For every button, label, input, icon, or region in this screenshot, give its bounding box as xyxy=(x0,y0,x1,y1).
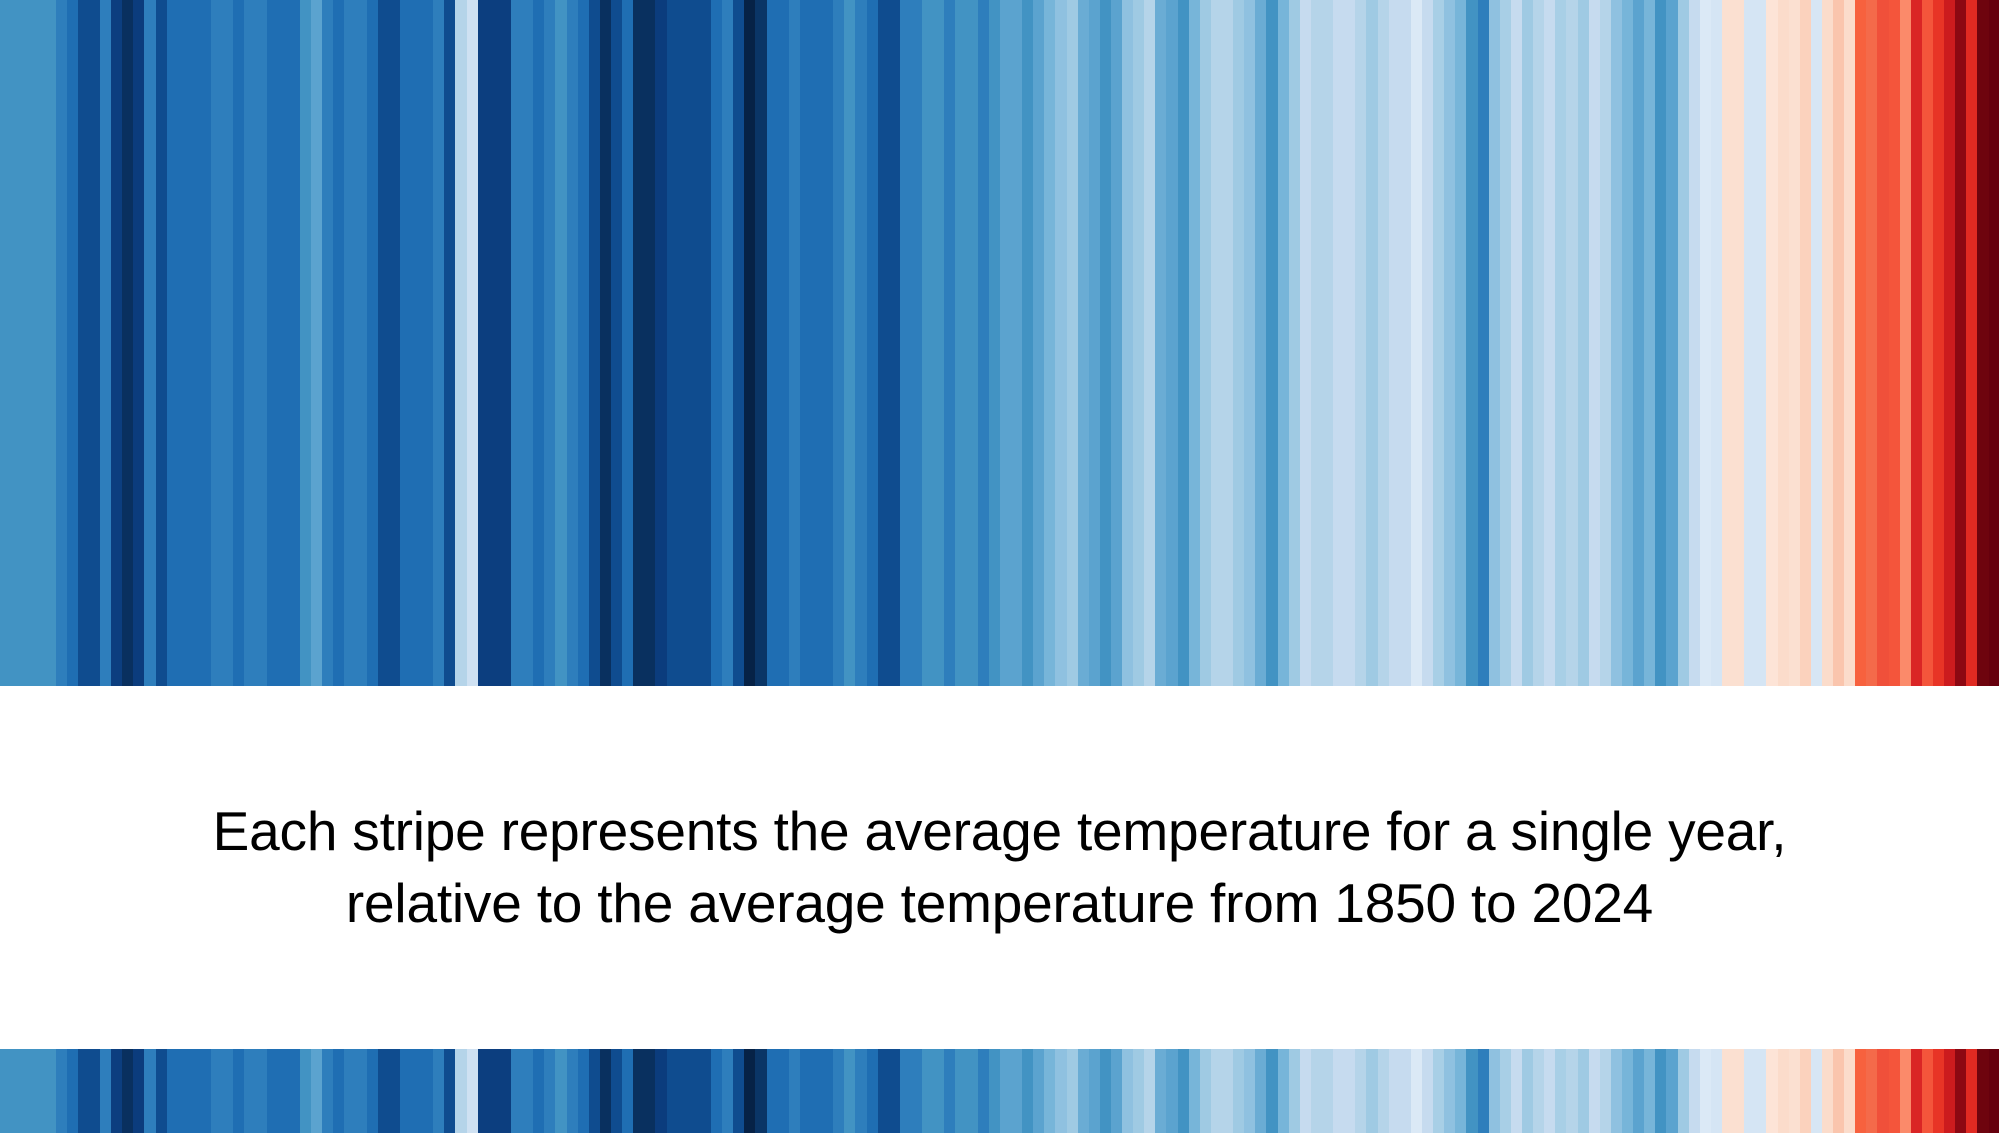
year-stripe xyxy=(889,1049,900,1133)
year-stripe xyxy=(1555,1049,1566,1133)
year-stripe xyxy=(633,1049,644,1133)
year-stripe xyxy=(0,0,11,686)
year-stripe xyxy=(600,1049,611,1133)
year-stripe xyxy=(44,0,55,686)
year-stripe xyxy=(667,0,678,686)
year-stripe xyxy=(33,1049,44,1133)
year-stripe xyxy=(633,0,644,686)
year-stripe xyxy=(689,1049,700,1133)
year-stripe xyxy=(1822,1049,1833,1133)
year-stripe xyxy=(389,0,400,686)
year-stripe xyxy=(1500,0,1511,686)
year-stripe xyxy=(267,1049,278,1133)
year-stripe xyxy=(589,1049,600,1133)
year-stripe xyxy=(22,0,33,686)
year-stripe xyxy=(544,0,555,686)
year-stripe xyxy=(1300,1049,1311,1133)
year-stripe xyxy=(1111,1049,1122,1133)
year-stripe xyxy=(189,0,200,686)
year-stripe xyxy=(1322,0,1333,686)
year-stripe xyxy=(1233,0,1244,686)
year-stripe xyxy=(1566,1049,1577,1133)
year-stripe xyxy=(1744,1049,1755,1133)
year-stripe xyxy=(944,1049,955,1133)
year-stripe xyxy=(1178,1049,1189,1133)
year-stripe xyxy=(1411,1049,1422,1133)
year-stripe xyxy=(522,0,533,686)
year-stripe xyxy=(767,0,778,686)
year-stripe xyxy=(1244,1049,1255,1133)
year-stripe xyxy=(978,0,989,686)
year-stripe xyxy=(111,0,122,686)
year-stripe xyxy=(855,0,866,686)
year-stripe xyxy=(533,0,544,686)
year-stripe xyxy=(844,1049,855,1133)
year-stripe xyxy=(200,0,211,686)
year-stripe xyxy=(1378,0,1389,686)
year-stripe xyxy=(955,1049,966,1133)
year-stripe xyxy=(1633,0,1644,686)
year-stripe xyxy=(1044,1049,1055,1133)
caption-line-1: Each stripe represents the average tempe… xyxy=(70,796,1930,868)
year-stripe xyxy=(1778,0,1789,686)
year-stripe xyxy=(644,1049,655,1133)
year-stripe xyxy=(422,1049,433,1133)
main-stripes-band xyxy=(0,0,1999,686)
year-stripe xyxy=(544,1049,555,1133)
year-stripe xyxy=(1511,1049,1522,1133)
year-stripe xyxy=(1966,1049,1977,1133)
year-stripe xyxy=(133,1049,144,1133)
year-stripe xyxy=(855,1049,866,1133)
year-stripe xyxy=(1833,1049,1844,1133)
year-stripe xyxy=(511,0,522,686)
year-stripe xyxy=(122,0,133,686)
year-stripe xyxy=(1433,0,1444,686)
year-stripe xyxy=(478,1049,489,1133)
year-stripe xyxy=(1389,0,1400,686)
year-stripe xyxy=(1478,1049,1489,1133)
year-stripe xyxy=(311,0,322,686)
year-stripe xyxy=(1922,1049,1933,1133)
year-stripe xyxy=(1500,1049,1511,1133)
year-stripe xyxy=(322,0,333,686)
year-stripe xyxy=(244,0,255,686)
year-stripe xyxy=(478,0,489,686)
year-stripe xyxy=(1200,1049,1211,1133)
year-stripe xyxy=(400,1049,411,1133)
year-stripe xyxy=(1533,1049,1544,1133)
year-stripe xyxy=(1877,1049,1888,1133)
year-stripe xyxy=(1977,1049,1988,1133)
year-stripe xyxy=(578,0,589,686)
year-stripe xyxy=(1578,0,1589,686)
year-stripe xyxy=(1489,0,1500,686)
year-stripe xyxy=(11,0,22,686)
year-stripe xyxy=(989,1049,1000,1133)
year-stripe xyxy=(1933,1049,1944,1133)
year-stripe xyxy=(1078,0,1089,686)
year-stripe xyxy=(1633,1049,1644,1133)
year-stripe xyxy=(889,0,900,686)
year-stripe xyxy=(1877,0,1888,686)
year-stripe xyxy=(56,0,67,686)
year-stripe xyxy=(1344,1049,1355,1133)
year-stripe xyxy=(444,1049,455,1133)
caption-line-2: relative to the average temperature from… xyxy=(70,868,1930,940)
year-stripe xyxy=(1122,0,1133,686)
year-stripe xyxy=(1011,1049,1022,1133)
year-stripe xyxy=(1766,0,1777,686)
year-stripe xyxy=(1044,0,1055,686)
year-stripe xyxy=(1400,1049,1411,1133)
year-stripe xyxy=(411,0,422,686)
year-stripe xyxy=(489,1049,500,1133)
year-stripe xyxy=(1078,1049,1089,1133)
year-stripe xyxy=(1455,1049,1466,1133)
year-stripe xyxy=(1755,0,1766,686)
year-stripe xyxy=(1722,1049,1733,1133)
year-stripe xyxy=(1144,0,1155,686)
year-stripe xyxy=(1600,0,1611,686)
year-stripe xyxy=(344,0,355,686)
year-stripe xyxy=(78,0,89,686)
year-stripe xyxy=(233,1049,244,1133)
year-stripe xyxy=(967,0,978,686)
year-stripe xyxy=(678,0,689,686)
year-stripe xyxy=(1822,0,1833,686)
year-stripe xyxy=(1666,1049,1677,1133)
year-stripe xyxy=(1922,0,1933,686)
year-stripe xyxy=(1789,1049,1800,1133)
year-stripe xyxy=(433,1049,444,1133)
caption-text: Each stripe represents the average tempe… xyxy=(70,796,1930,939)
year-stripe xyxy=(256,1049,267,1133)
year-stripe xyxy=(900,0,911,686)
year-stripe xyxy=(489,0,500,686)
year-stripe xyxy=(655,1049,666,1133)
year-stripe xyxy=(1366,1049,1377,1133)
year-stripe xyxy=(267,0,278,686)
year-stripe xyxy=(389,1049,400,1133)
year-stripe xyxy=(278,1049,289,1133)
year-stripe xyxy=(878,0,889,686)
year-stripe xyxy=(533,1049,544,1133)
year-stripe xyxy=(933,1049,944,1133)
year-stripe xyxy=(167,1049,178,1133)
footer-stripes-band xyxy=(0,1049,1999,1133)
year-stripe xyxy=(1800,1049,1811,1133)
year-stripe xyxy=(1711,1049,1722,1133)
year-stripe xyxy=(1122,1049,1133,1133)
year-stripe xyxy=(933,0,944,686)
year-stripe xyxy=(1144,1049,1155,1133)
year-stripe xyxy=(1689,1049,1700,1133)
year-stripe xyxy=(100,0,111,686)
year-stripe xyxy=(378,0,389,686)
year-stripe xyxy=(1311,0,1322,686)
year-stripe xyxy=(955,0,966,686)
year-stripe xyxy=(433,0,444,686)
year-stripe xyxy=(111,1049,122,1133)
year-stripe xyxy=(1800,0,1811,686)
year-stripe xyxy=(1000,1049,1011,1133)
year-stripe xyxy=(555,0,566,686)
year-stripe xyxy=(844,0,855,686)
year-stripe xyxy=(500,1049,511,1133)
year-stripe xyxy=(1622,0,1633,686)
year-stripe xyxy=(1511,0,1522,686)
year-stripe xyxy=(44,1049,55,1133)
year-stripe xyxy=(1944,0,1955,686)
year-stripe xyxy=(278,0,289,686)
year-stripe xyxy=(1789,0,1800,686)
year-stripe xyxy=(89,0,100,686)
year-stripe xyxy=(567,0,578,686)
year-stripe xyxy=(1766,1049,1777,1133)
year-stripe xyxy=(144,1049,155,1133)
year-stripe xyxy=(1333,0,1344,686)
year-stripe xyxy=(1411,0,1422,686)
year-stripe xyxy=(1811,1049,1822,1133)
year-stripe xyxy=(189,1049,200,1133)
year-stripe xyxy=(944,0,955,686)
year-stripe xyxy=(1266,0,1277,686)
year-stripe xyxy=(467,1049,478,1133)
year-stripe xyxy=(1400,0,1411,686)
year-stripe xyxy=(222,1049,233,1133)
year-stripe xyxy=(1022,1049,1033,1133)
year-stripe xyxy=(100,1049,111,1133)
year-stripe xyxy=(789,1049,800,1133)
year-stripe xyxy=(1389,1049,1400,1133)
year-stripe xyxy=(289,0,300,686)
year-stripe xyxy=(1989,0,1999,686)
year-stripe xyxy=(444,0,455,686)
year-stripe xyxy=(1866,1049,1877,1133)
year-stripe xyxy=(1544,0,1555,686)
year-stripe xyxy=(1166,0,1177,686)
year-stripe xyxy=(578,1049,589,1133)
year-stripe xyxy=(1355,1049,1366,1133)
year-stripe xyxy=(22,1049,33,1133)
year-stripe xyxy=(333,0,344,686)
year-stripe xyxy=(555,1049,566,1133)
year-stripe xyxy=(1966,0,1977,686)
year-stripe xyxy=(1889,0,1900,686)
year-stripe xyxy=(733,0,744,686)
year-stripe xyxy=(511,1049,522,1133)
year-stripe xyxy=(1844,0,1855,686)
year-stripe xyxy=(667,1049,678,1133)
year-stripe xyxy=(1489,1049,1500,1133)
year-stripe xyxy=(600,0,611,686)
year-stripe xyxy=(1444,0,1455,686)
year-stripe xyxy=(1089,0,1100,686)
year-stripe xyxy=(1033,0,1044,686)
year-stripe xyxy=(1944,1049,1955,1133)
year-stripe xyxy=(1644,1049,1655,1133)
year-stripe xyxy=(411,1049,422,1133)
year-stripe xyxy=(333,1049,344,1133)
year-stripe xyxy=(644,0,655,686)
year-stripe xyxy=(522,1049,533,1133)
year-stripe xyxy=(767,1049,778,1133)
year-stripe xyxy=(878,1049,889,1133)
year-stripe xyxy=(655,0,666,686)
year-stripe xyxy=(1844,1049,1855,1133)
year-stripe xyxy=(1655,0,1666,686)
year-stripe xyxy=(778,1049,789,1133)
year-stripe xyxy=(1655,1049,1666,1133)
year-stripe xyxy=(311,1049,322,1133)
year-stripe xyxy=(811,1049,822,1133)
year-stripe xyxy=(300,0,311,686)
year-stripe xyxy=(378,1049,389,1133)
warming-stripes-poster: Each stripe represents the average tempe… xyxy=(0,0,1999,1133)
year-stripe xyxy=(1566,0,1577,686)
year-stripe xyxy=(922,1049,933,1133)
year-stripe xyxy=(1278,1049,1289,1133)
year-stripe xyxy=(344,1049,355,1133)
year-stripe xyxy=(711,1049,722,1133)
year-stripe xyxy=(833,1049,844,1133)
year-stripe xyxy=(755,0,766,686)
year-stripe xyxy=(178,0,189,686)
year-stripe xyxy=(1322,1049,1333,1133)
year-stripe xyxy=(1733,0,1744,686)
year-stripe xyxy=(1255,1049,1266,1133)
year-stripe xyxy=(1378,1049,1389,1133)
year-stripe xyxy=(1166,1049,1177,1133)
year-stripe xyxy=(922,0,933,686)
year-stripe xyxy=(178,1049,189,1133)
year-stripe xyxy=(1178,0,1189,686)
year-stripe xyxy=(1111,0,1122,686)
year-stripe xyxy=(1022,0,1033,686)
year-stripe xyxy=(1977,0,1988,686)
year-stripe xyxy=(822,1049,833,1133)
year-stripe xyxy=(755,1049,766,1133)
year-stripe xyxy=(1855,1049,1866,1133)
year-stripe xyxy=(1678,1049,1689,1133)
year-stripe xyxy=(1755,1049,1766,1133)
year-stripe xyxy=(0,1049,11,1133)
year-stripe xyxy=(1900,1049,1911,1133)
year-stripe xyxy=(1900,0,1911,686)
year-stripe xyxy=(1544,1049,1555,1133)
year-stripe xyxy=(1222,0,1233,686)
year-stripe xyxy=(1955,0,1966,686)
year-stripe xyxy=(1622,1049,1633,1133)
year-stripe xyxy=(1700,0,1711,686)
year-stripe xyxy=(144,0,155,686)
year-stripe xyxy=(211,0,222,686)
year-stripe xyxy=(1433,1049,1444,1133)
year-stripe xyxy=(1533,0,1544,686)
year-stripe xyxy=(811,0,822,686)
year-stripe xyxy=(467,0,478,686)
year-stripe xyxy=(1189,0,1200,686)
year-stripe xyxy=(744,1049,755,1133)
year-stripe xyxy=(911,1049,922,1133)
year-stripe xyxy=(800,1049,811,1133)
year-stripe xyxy=(1211,1049,1222,1133)
year-stripe xyxy=(256,0,267,686)
year-stripe xyxy=(678,1049,689,1133)
year-stripe xyxy=(1289,0,1300,686)
year-stripe xyxy=(1911,1049,1922,1133)
year-stripe xyxy=(455,0,466,686)
year-stripe xyxy=(1333,1049,1344,1133)
year-stripe xyxy=(789,0,800,686)
year-stripe xyxy=(700,1049,711,1133)
year-stripe xyxy=(1422,0,1433,686)
year-stripe xyxy=(1311,1049,1322,1133)
year-stripe xyxy=(1955,1049,1966,1133)
year-stripe xyxy=(1611,1049,1622,1133)
year-stripe xyxy=(1522,1049,1533,1133)
year-stripe xyxy=(1100,0,1111,686)
year-stripe xyxy=(1466,1049,1477,1133)
year-stripe xyxy=(1611,0,1622,686)
year-stripe xyxy=(1422,1049,1433,1133)
year-stripe xyxy=(67,1049,78,1133)
year-stripe xyxy=(1355,0,1366,686)
year-stripe xyxy=(1678,0,1689,686)
year-stripe xyxy=(1089,1049,1100,1133)
year-stripe xyxy=(455,1049,466,1133)
year-stripe xyxy=(1478,0,1489,686)
year-stripe xyxy=(1055,0,1066,686)
year-stripe xyxy=(1700,1049,1711,1133)
year-stripe xyxy=(911,0,922,686)
year-stripe xyxy=(1266,1049,1277,1133)
year-stripe xyxy=(1889,1049,1900,1133)
year-stripe xyxy=(1155,1049,1166,1133)
year-stripe xyxy=(11,1049,22,1133)
year-stripe xyxy=(1600,1049,1611,1133)
year-stripe xyxy=(622,1049,633,1133)
year-stripe xyxy=(867,1049,878,1133)
year-stripe xyxy=(289,1049,300,1133)
year-stripe xyxy=(56,1049,67,1133)
year-stripe xyxy=(156,0,167,686)
year-stripe xyxy=(1589,1049,1600,1133)
year-stripe xyxy=(1833,0,1844,686)
year-stripe xyxy=(167,0,178,686)
year-stripe xyxy=(822,0,833,686)
year-stripe xyxy=(1589,0,1600,686)
year-stripe xyxy=(1100,1049,1111,1133)
year-stripe xyxy=(1000,0,1011,686)
year-stripe xyxy=(1222,1049,1233,1133)
year-stripe xyxy=(1366,0,1377,686)
year-stripe xyxy=(67,0,78,686)
year-stripe xyxy=(900,1049,911,1133)
year-stripe xyxy=(711,0,722,686)
year-stripe xyxy=(1855,0,1866,686)
year-stripe xyxy=(78,1049,89,1133)
year-stripe xyxy=(356,1049,367,1133)
caption-band: Each stripe represents the average tempe… xyxy=(0,686,1999,1049)
year-stripe xyxy=(244,1049,255,1133)
year-stripe xyxy=(778,0,789,686)
year-stripe xyxy=(611,1049,622,1133)
year-stripe xyxy=(589,0,600,686)
year-stripe xyxy=(1644,0,1655,686)
year-stripe xyxy=(222,0,233,686)
